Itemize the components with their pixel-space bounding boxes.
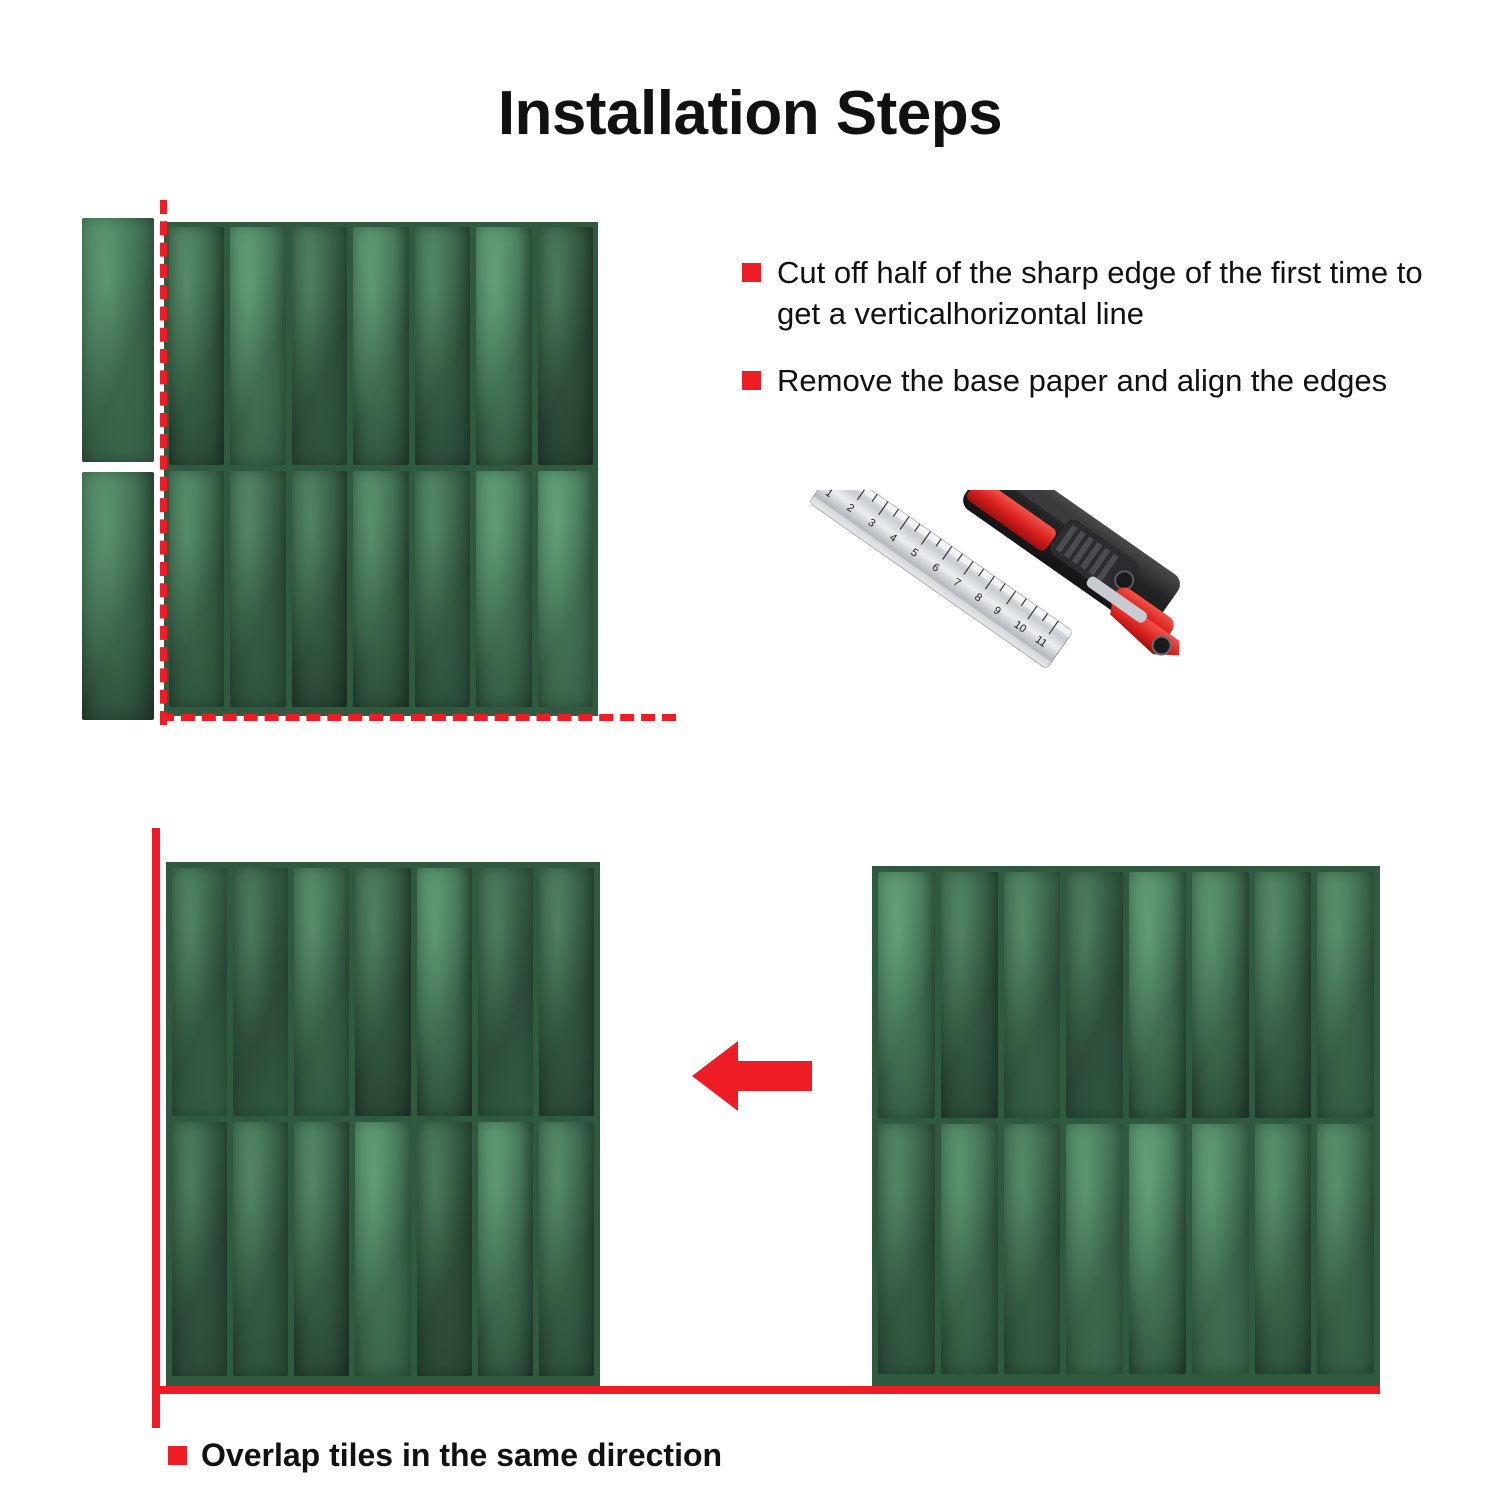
tile: [878, 872, 935, 1118]
tile: [478, 868, 533, 1116]
tile: [1066, 1124, 1123, 1374]
list-item: Remove the base paper and align the edge…: [742, 360, 1452, 401]
tile: [169, 471, 224, 707]
tile: [355, 1122, 410, 1376]
tile: [292, 471, 347, 707]
tile: [82, 218, 154, 462]
tile: [941, 872, 998, 1118]
tile: [941, 1124, 998, 1374]
step3-horizontal-align-guide: [152, 1386, 1380, 1394]
bottom-caption-text: Overlap tiles in the same direction: [201, 1434, 722, 1477]
bullet-text: Remove the base paper and align the edge…: [777, 360, 1387, 401]
tile: [233, 868, 288, 1116]
tile: [478, 1122, 533, 1376]
tile: [294, 868, 349, 1116]
tile: [1255, 1124, 1312, 1374]
step1-tile-panel: [164, 222, 598, 716]
tile: [292, 227, 347, 465]
tile: [415, 471, 470, 707]
tile: [878, 1124, 935, 1374]
tile: [294, 1122, 349, 1376]
tile: [417, 868, 472, 1116]
tile: [539, 868, 594, 1116]
tile: [233, 1122, 288, 1376]
bullet-square-icon: [742, 371, 761, 390]
tile: [476, 227, 531, 465]
tile: [1129, 872, 1186, 1118]
tile: [417, 1122, 472, 1376]
tile: [1129, 1124, 1186, 1374]
tile: [172, 1122, 227, 1376]
tile: [1317, 872, 1374, 1118]
step3-tile-panel: [872, 866, 1380, 1386]
tile: [1317, 1124, 1374, 1374]
step3-vertical-align-guide: [152, 828, 160, 1428]
tile: [1255, 872, 1312, 1118]
bullet-square-icon: [168, 1446, 187, 1465]
bottom-caption: Overlap tiles in the same direction: [168, 1434, 722, 1477]
step1-offcut-strip: [82, 218, 154, 720]
tile: [539, 1122, 594, 1376]
tile: [1192, 1124, 1249, 1374]
tile: [230, 471, 285, 707]
tile: [1004, 1124, 1061, 1374]
tile: [538, 471, 593, 707]
page-title: Installation Steps: [0, 78, 1500, 149]
tile: [415, 227, 470, 465]
step2-tile-panel: [166, 862, 600, 1386]
tile: [169, 227, 224, 465]
tile: [538, 227, 593, 465]
tile: [476, 471, 531, 707]
tile: [1004, 872, 1061, 1118]
step1-horizontal-cut-guide: [160, 714, 676, 721]
tile: [353, 227, 408, 465]
tile: [353, 471, 408, 707]
bullet-square-icon: [742, 263, 761, 282]
tile: [82, 472, 154, 720]
tools-illustration: 123 456 789 1011: [800, 490, 1300, 780]
list-item: Cut off half of the sharp edge of the fi…: [742, 252, 1452, 334]
tile: [172, 868, 227, 1116]
left-arrow-icon: [692, 1037, 812, 1115]
tile: [230, 227, 285, 465]
tile: [355, 868, 410, 1116]
instructions-list: Cut off half of the sharp edge of the fi…: [742, 252, 1452, 428]
step1-vertical-cut-guide: [160, 200, 167, 725]
tile: [1192, 872, 1249, 1118]
tile: [1066, 872, 1123, 1118]
tools-svg: 123 456 789 1011: [800, 490, 1300, 780]
bullet-text: Cut off half of the sharp edge of the fi…: [777, 252, 1452, 334]
